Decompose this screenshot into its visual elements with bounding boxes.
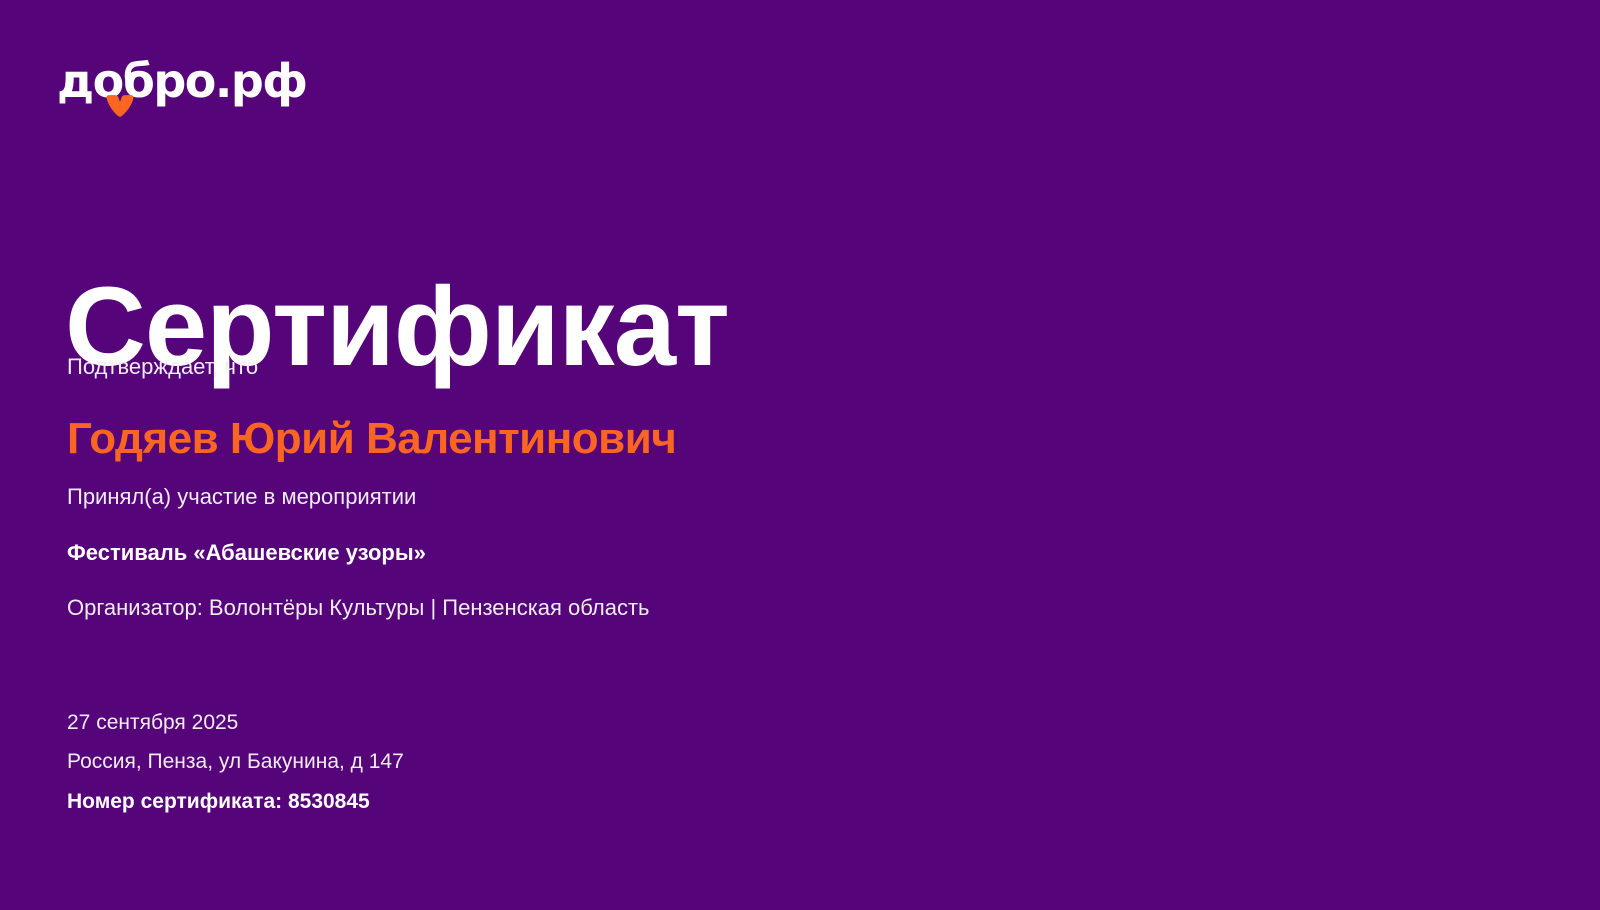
heart-icon (105, 95, 135, 117)
recipient-name: Годяев Юрий Валентинович (67, 416, 1467, 462)
certificate-page: добро.рф Сертификат Подтверждает, что Го… (0, 0, 1600, 910)
organizer-line: Организатор: Волонтёры Культуры | Пензен… (67, 593, 1467, 623)
certificate-footer: 27 сентября 2025 Россия, Пенза, ул Бакун… (67, 712, 1467, 812)
dobro-rf-logo[interactable]: добро.рф (57, 58, 306, 120)
confirms-label: Подтверждает, что (67, 352, 1467, 382)
event-name: Фестиваль «Абашевские узоры» (67, 538, 1467, 568)
logo-wordmark: добро.рф (57, 58, 306, 104)
certificate-number: Номер сертификата: 8530845 (67, 791, 1467, 812)
participation-label: Принял(а) участие в мероприятии (67, 482, 1467, 512)
certificate-body: Подтверждает, что Годяев Юрий Валентинов… (67, 352, 1467, 623)
certificate-place: Россия, Пенза, ул Бакунина, д 147 (67, 751, 1467, 772)
certificate-date: 27 сентября 2025 (67, 712, 1467, 733)
